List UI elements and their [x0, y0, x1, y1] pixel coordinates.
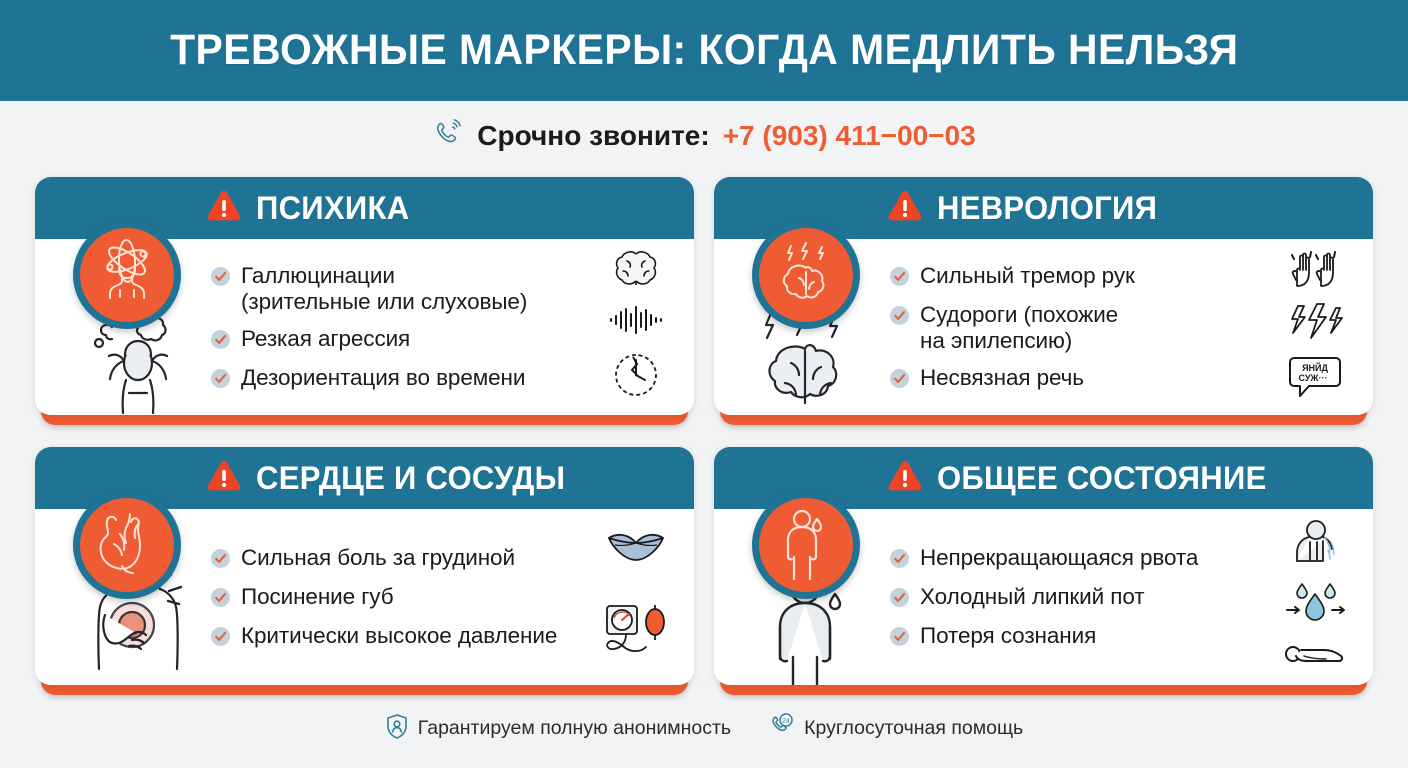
- footer-label-anonymity: Гарантируем полную анонимность: [418, 717, 731, 740]
- list-item: Судороги (похожиена эпилепсию): [890, 302, 1263, 353]
- svg-text:24: 24: [782, 718, 790, 725]
- warning-triangle-icon: [886, 189, 924, 228]
- mini-icon-column-heart: [592, 513, 680, 679]
- list-item: Холодный липкий пот: [890, 584, 1263, 612]
- phone-ringing-icon: [432, 118, 464, 155]
- check-circle-icon: [211, 588, 230, 612]
- warning-triangle-icon: [205, 189, 243, 228]
- shaking-hands-icon: [1286, 248, 1344, 293]
- list-item: Потеря сознания: [890, 623, 1263, 651]
- card-neurology: НЕВРОЛОГИЯ: [714, 177, 1373, 425]
- phone-number[interactable]: +7 (903) 411−00−03: [723, 120, 976, 152]
- mini-icon-column-psyche: [592, 243, 680, 409]
- list-item-text: Посинение губ: [241, 584, 394, 610]
- person-lying-down-icon: [1284, 640, 1346, 673]
- footer-trust-badges: Гарантируем полную анонимность 24 Кругло…: [0, 713, 1408, 744]
- card-heart: СЕРДЦЕ И СОСУДЫ: [35, 447, 694, 695]
- mini-icon-column-general: [1271, 513, 1359, 679]
- check-circle-icon: [211, 549, 230, 573]
- footer-label-24h: Круглосуточная помощь: [804, 717, 1023, 740]
- sound-wave-icon: [608, 306, 664, 339]
- sweat-droplets-icon: [1284, 580, 1346, 627]
- check-circle-icon: [890, 627, 909, 651]
- check-circle-icon: [890, 267, 909, 291]
- list-item-text: Дезориентация во времени: [241, 365, 525, 391]
- check-circle-icon: [211, 330, 230, 354]
- check-circle-icon: [211, 369, 230, 393]
- list-item: Сильный тремор рук: [890, 263, 1263, 291]
- check-circle-icon: [211, 627, 230, 651]
- list-item: Сильная боль за грудиной: [211, 545, 584, 573]
- person-sweating-icon: [752, 491, 860, 599]
- list-item: Резкая агрессия: [211, 326, 584, 354]
- list-item: Несвязная речь: [890, 365, 1263, 393]
- brain-lightning-icon: [752, 221, 860, 329]
- symptom-card-grid: ПСИХИКА: [35, 177, 1373, 695]
- footer-item-anonymity: Гарантируем полную анонимность: [385, 713, 731, 744]
- bullet-list-neurology: Сильный тремор рук Судороги (похожиена э…: [890, 251, 1263, 405]
- list-item-text: Холодный липкий пот: [920, 584, 1144, 610]
- card-title-neurology: НЕВРОЛОГИЯ: [937, 190, 1157, 227]
- list-item-text: Сильная боль за грудиной: [241, 545, 515, 571]
- blue-lips-icon: [606, 530, 666, 569]
- brain-top-view-icon: [611, 249, 661, 294]
- garbled-speech-bubble-icon: ЯНЙД СУЖ···: [1287, 355, 1343, 404]
- list-item-text: Потеря сознания: [920, 623, 1096, 649]
- bullet-list-heart: Сильная боль за грудиной Посинение губ К…: [211, 521, 584, 675]
- list-item: Дезориентация во времени: [211, 365, 584, 393]
- list-item-text: Сильный тремор рук: [920, 263, 1135, 289]
- check-circle-icon: [211, 267, 230, 291]
- list-item: Критически высокое давление: [211, 623, 584, 651]
- footer-item-24h: 24 Круглосуточная помощь: [769, 713, 1023, 744]
- list-item-text: Галлюцинации(зрительные или слуховые): [241, 263, 527, 314]
- list-item-text: Несвязная речь: [920, 365, 1084, 391]
- card-title-general: ОБЩЕЕ СОСТОЯНИЕ: [937, 460, 1267, 497]
- check-circle-icon: [890, 306, 909, 330]
- call-label: Срочно звоните:: [477, 120, 709, 152]
- list-item: Посинение губ: [211, 584, 584, 612]
- list-item-text: Критически высокое давление: [241, 623, 557, 649]
- mini-icon-column-neurology: ЯНЙД СУЖ···: [1271, 243, 1359, 409]
- list-item: Непрекращающаяся рвота: [890, 545, 1263, 573]
- heart-anatomy-icon: [73, 491, 181, 599]
- bullet-list-psyche: Галлюцинации(зрительные или слуховые) Ре…: [211, 251, 584, 405]
- blood-pressure-monitor-icon: [604, 602, 668, 663]
- card-psyche: ПСИХИКА: [35, 177, 694, 425]
- page-header-bar: ТРЕВОЖНЫЕ МАРКЕРЫ: КОГДА МЕДЛИТЬ НЕЛЬЗЯ: [0, 0, 1408, 101]
- svg-text:СУЖ···: СУЖ···: [1298, 373, 1327, 383]
- list-item-text: Резкая агрессия: [241, 326, 410, 352]
- shield-person-icon: [385, 713, 409, 744]
- lightning-bolts-icon: [1287, 303, 1343, 344]
- warning-triangle-icon: [886, 459, 924, 498]
- svg-text:ЯНЙД: ЯНЙД: [1302, 362, 1328, 373]
- call-to-action-strip: Срочно звоните: +7 (903) 411−00−03: [0, 101, 1408, 171]
- list-item: Галлюцинации(зрительные или слуховые): [211, 263, 584, 314]
- list-item-text: Непрекращающаяся рвота: [920, 545, 1198, 571]
- warning-triangle-icon: [205, 459, 243, 498]
- card-title-psyche: ПСИХИКА: [256, 190, 409, 227]
- list-item-text: Судороги (похожиена эпилепсию): [920, 302, 1118, 353]
- card-general: ОБЩЕЕ СОСТОЯНИЕ: [714, 447, 1373, 695]
- phone-24h-icon: 24: [769, 713, 795, 744]
- check-circle-icon: [890, 588, 909, 612]
- check-circle-icon: [890, 369, 909, 393]
- broken-clock-icon: [613, 352, 659, 403]
- confused-head-atoms-icon: [73, 221, 181, 329]
- bullet-list-general: Непрекращающаяся рвота Холодный липкий п…: [890, 521, 1263, 675]
- vomiting-person-icon: [1288, 520, 1342, 567]
- card-title-heart: СЕРДЦЕ И СОСУДЫ: [256, 460, 565, 497]
- check-circle-icon: [890, 549, 909, 573]
- page-title: ТРЕВОЖНЫЕ МАРКЕРЫ: КОГДА МЕДЛИТЬ НЕЛЬЗЯ: [170, 26, 1238, 75]
